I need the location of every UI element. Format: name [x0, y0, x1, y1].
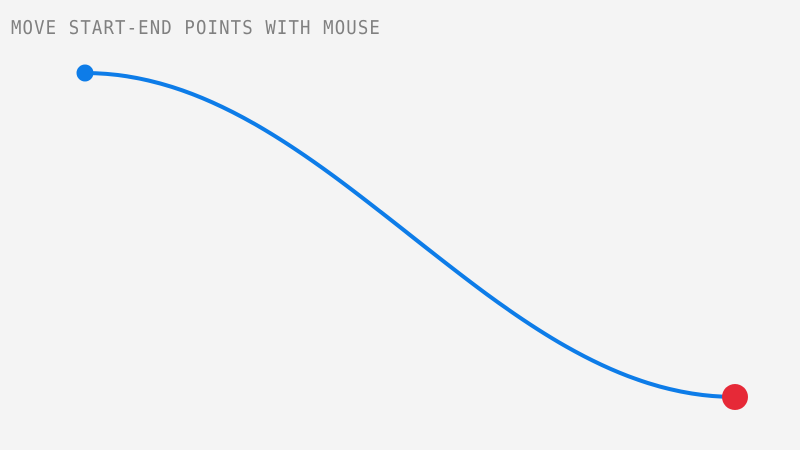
page-title: MOVE START-END POINTS WITH MOUSE [11, 17, 381, 39]
start-point-drag-target[interactable] [73, 61, 98, 86]
end-point-drag-target[interactable] [718, 380, 752, 414]
bezier-canvas[interactable] [0, 0, 800, 450]
canvas-stage[interactable]: MOVE START-END POINTS WITH MOUSE [0, 0, 800, 450]
